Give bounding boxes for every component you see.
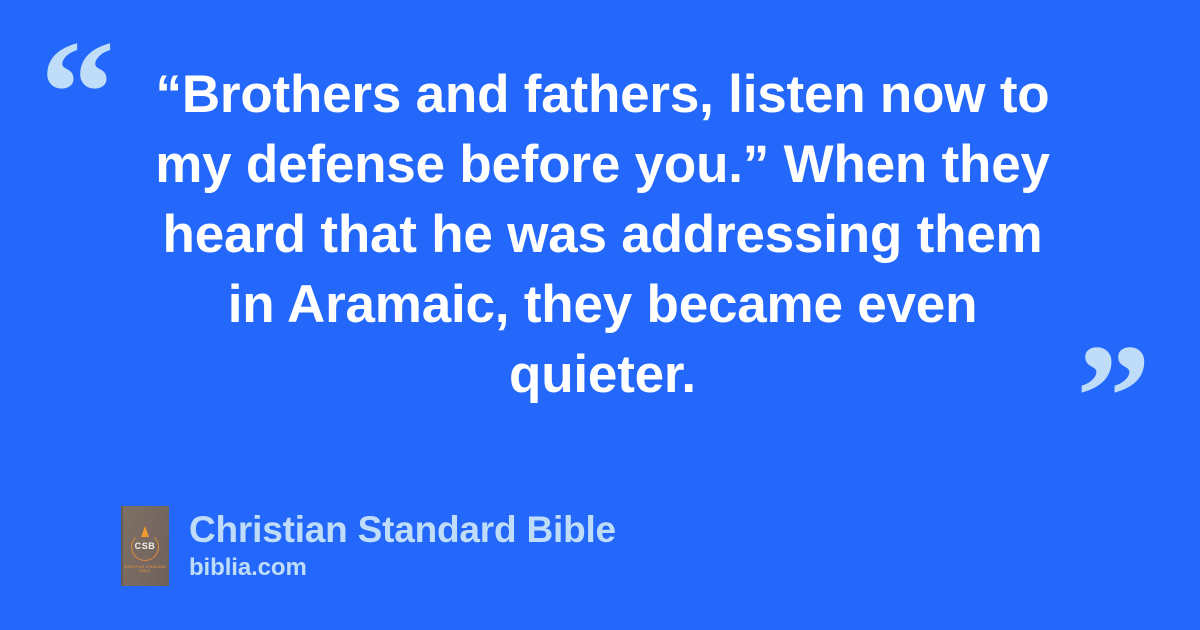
- attribution: CSB CHRISTIAN STANDARD BIBLE Christian S…: [121, 506, 616, 586]
- quote-block: “Brothers and fathers, listen now to my …: [120, 60, 1085, 410]
- open-quote-icon: “: [40, 18, 115, 168]
- quote-card: “ ” “Brothers and fathers, listen now to…: [0, 0, 1200, 630]
- close-quote-icon: ”: [1076, 322, 1151, 472]
- source-url[interactable]: biblia.com: [189, 553, 616, 583]
- attribution-text: Christian Standard Bible biblia.com: [189, 509, 616, 583]
- csb-logo-text: CSB: [121, 541, 169, 551]
- csb-logo-subtitle: CHRISTIAN STANDARD BIBLE: [121, 565, 169, 573]
- bible-book-cover-icon: CSB CHRISTIAN STANDARD BIBLE: [121, 506, 169, 586]
- source-title: Christian Standard Bible: [189, 509, 616, 551]
- quote-text: “Brothers and fathers, listen now to my …: [120, 60, 1085, 410]
- csb-logo-flame-icon: [141, 526, 149, 537]
